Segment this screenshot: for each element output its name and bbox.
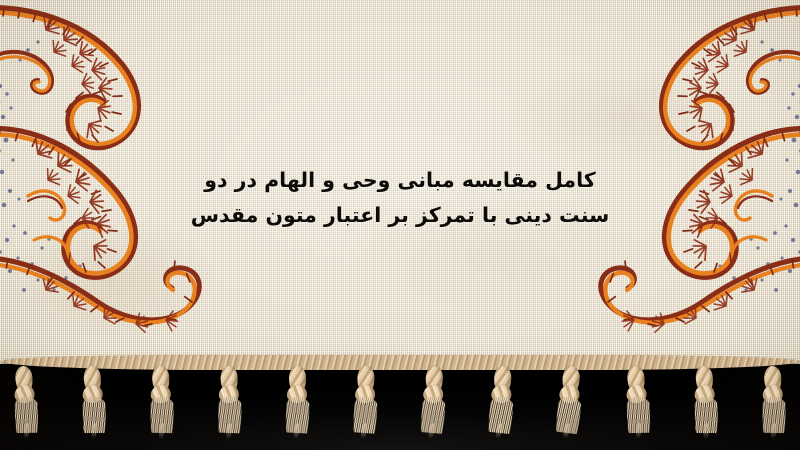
fringe-tassel — [551, 363, 586, 439]
tassel-thread-brush — [83, 397, 106, 433]
fringe-tassel — [145, 363, 178, 438]
fringe-tassel — [7, 363, 42, 439]
tassel-thread-brush — [627, 397, 651, 433]
tassel-thread-brush — [487, 396, 514, 434]
paisley-corner-left-icon — [0, 0, 294, 362]
fringe-tassel — [688, 363, 722, 438]
tassel-thread-brush — [420, 396, 446, 434]
fringe-tassel — [757, 363, 790, 438]
tassel-thread-brush — [150, 397, 174, 433]
fringe-tassel — [213, 364, 244, 439]
tassel-thread-brush — [353, 396, 378, 434]
tassel-thread-brush — [762, 397, 786, 433]
fringe-tassel — [417, 363, 450, 438]
bottom-black-band — [0, 364, 800, 450]
tassel-thread-brush — [555, 396, 582, 435]
textile-banner: کامل مقایسه مبانی وحی و الهام در دو سنت … — [0, 0, 800, 450]
tassel-thread-brush — [695, 397, 718, 433]
fringe-tassel — [349, 364, 380, 439]
fringe-tassel — [282, 364, 312, 438]
textile-hem-edge — [0, 355, 800, 370]
fringe-tassel — [484, 363, 518, 438]
tassel-thread-brush — [15, 397, 39, 433]
tassel-thread-brush — [218, 397, 242, 434]
fringe-tassel — [76, 363, 110, 438]
fringe-tassel — [619, 363, 654, 439]
paisley-corner-right-icon — [506, 0, 800, 362]
tassel-thread-brush — [285, 396, 310, 433]
